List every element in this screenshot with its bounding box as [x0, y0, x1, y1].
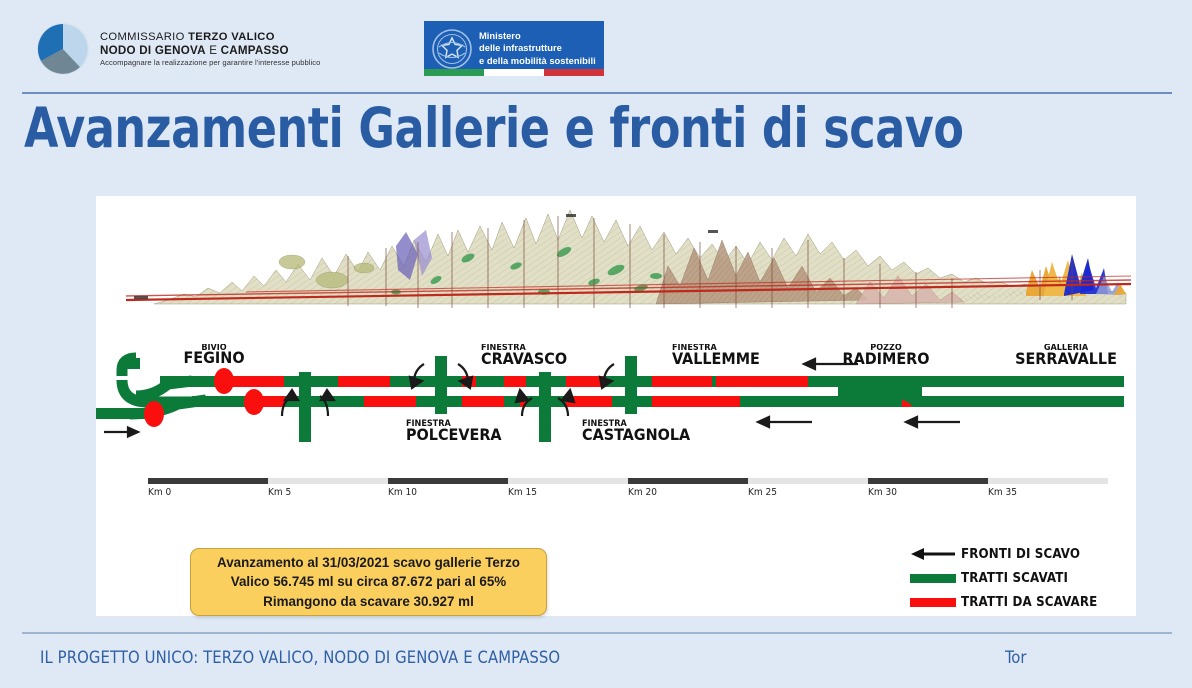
km-segment [388, 478, 508, 484]
green-swatch-icon [905, 574, 961, 583]
geological-profile-image [96, 196, 1136, 321]
front-marker-fegino-upper [214, 368, 234, 394]
km-segment [868, 478, 988, 484]
republic-emblem-icon [430, 27, 474, 71]
legend-label-tratti-scavati: TRATTI SCAVATI [961, 571, 1068, 586]
commissario-logo-line2-bold: NODO DI GENOVA [100, 44, 206, 57]
commissario-logo-line1-bold: TERZO VALICO [188, 31, 275, 43]
km-label: Km 10 [388, 487, 417, 498]
ministero-logo: Ministero delle infrastrutture e della m… [424, 21, 604, 76]
legend-label-tratti-da-scavare: TRATTI DA SCAVARE [961, 595, 1097, 610]
legend: FRONTI DI SCAVO TRATTI SCAVATI TRATTI DA… [905, 542, 1120, 616]
italian-flag-stripe [424, 69, 604, 76]
legend-item-tratti-scavati: TRATTI SCAVATI [905, 566, 1120, 590]
info-line-3: Rimangono da scavare 30.927 ml [263, 592, 474, 611]
label-galleria-serravalle-big: SERRAVALLE [1015, 349, 1117, 368]
front-marker-fegino-lower [244, 389, 264, 415]
km-scale: Km 0Km 5Km 10Km 15Km 20Km 25Km 30Km 35 [148, 478, 1108, 504]
red-swatch-icon [905, 598, 961, 607]
footer-right-text: Tor [1005, 648, 1026, 667]
km-label: Km 35 [988, 487, 1017, 498]
label-finestra-castagnola-big: CASTAGNOLA [582, 425, 691, 444]
title-divider [22, 92, 1172, 94]
commissario-logo-line2-bold2: CAMPASSO [221, 44, 289, 57]
footer: IL PROGETTO UNICO: TERZO VALICO, NODO DI… [0, 634, 1192, 688]
km-label: Km 5 [268, 487, 291, 498]
progress-info-box: Avanzamento al 31/03/2021 scavo gallerie… [190, 548, 547, 616]
commissario-logo-line2-mid: E [206, 44, 221, 57]
ministero-line2: delle infrastrutture [479, 42, 596, 54]
km-segment [268, 478, 388, 484]
km-label: Km 20 [628, 487, 657, 498]
label-bivio-fegino-big: FEGINO [183, 348, 244, 367]
legend-item-tratti-da-scavare: TRATTI DA SCAVARE [905, 590, 1120, 614]
commissario-logo-line1-plain: COMMISSARIO [100, 31, 188, 43]
footer-left-text: IL PROGETTO UNICO: TERZO VALICO, NODO DI… [40, 648, 560, 667]
label-finestra-polcevera-big: POLCEVERA [406, 425, 502, 444]
km-segment [628, 478, 748, 484]
km-segment [988, 478, 1108, 484]
info-line-1: Avanzamento al 31/03/2021 scavo gallerie… [217, 553, 520, 572]
km-segment [748, 478, 868, 484]
label-finestra-cravasco-big: CRAVASCO [481, 349, 567, 368]
info-line-2: Valico 56.745 ml su circa 87.672 pari al… [231, 572, 506, 591]
label-pozzo-radimero-big: RADIMERO [842, 349, 929, 368]
legend-item-fronti-di-scavo: FRONTI DI SCAVO [905, 542, 1120, 566]
label-finestra-vallemme-big: VALLEMME [672, 349, 760, 368]
km-label: Km 25 [748, 487, 777, 498]
tunnel-track-schematic: BIVIO FEGINO FINESTRA POLCEVERA FINESTRA… [96, 344, 1136, 464]
commissario-logo: COMMISSARIO TERZO VALICO NODO DI GENOVA … [36, 22, 320, 76]
km-label: Km 15 [508, 487, 537, 498]
page-title: Avanzamenti Gallerie e fronti di scavo [24, 96, 1050, 158]
header-bar: COMMISSARIO TERZO VALICO NODO DI GENOVA … [0, 0, 1192, 90]
front-marker-fegino-west [144, 401, 164, 427]
km-label: Km 0 [148, 487, 171, 498]
km-segment [508, 478, 628, 484]
arrow-left-icon [905, 547, 961, 561]
km-scale-bar [148, 478, 1108, 484]
pie-circle-logo-icon [36, 22, 90, 76]
km-label: Km 30 [868, 487, 897, 498]
commissario-logo-tagline: Accompagnare la realizzazione per garant… [100, 59, 320, 68]
km-segment [148, 478, 268, 484]
legend-label-fronti-di-scavo: FRONTI DI SCAVO [961, 547, 1080, 562]
ministero-line1: Ministero [479, 30, 596, 42]
ministero-line3: e della mobilità sostenibili [479, 55, 596, 67]
